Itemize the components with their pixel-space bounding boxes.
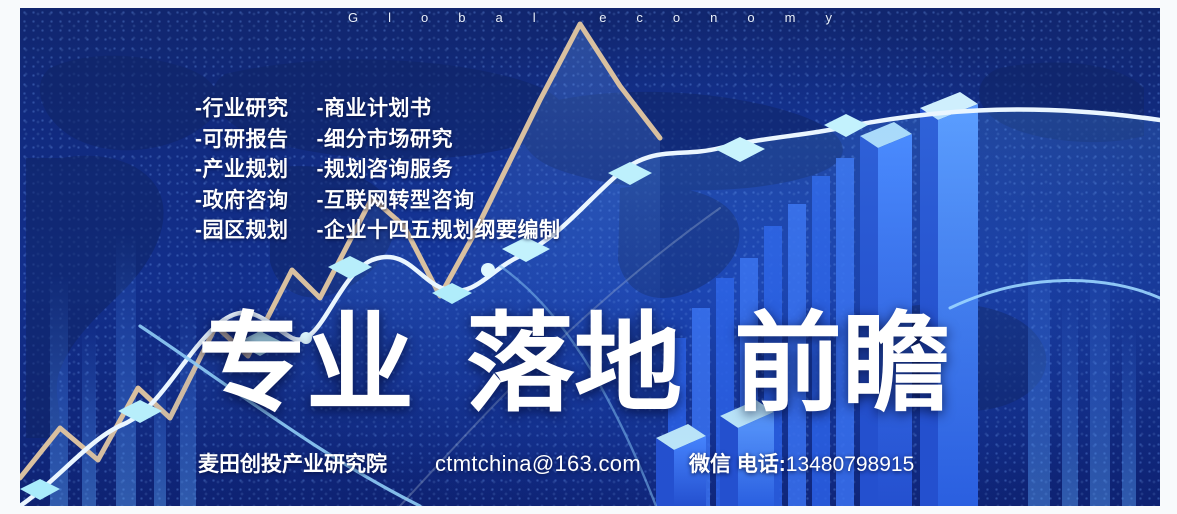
list-item: -政府咨询 bbox=[195, 186, 289, 217]
headline-word-1: 专业 bbox=[198, 305, 414, 423]
list-item: -商业计划书 bbox=[317, 94, 561, 125]
list-item: -规划咨询服务 bbox=[317, 155, 561, 186]
list-item: -产业规划 bbox=[195, 155, 289, 186]
headline-word-2: 落地 bbox=[466, 305, 682, 423]
phone-number[interactable]: 13480798915 bbox=[786, 453, 914, 476]
list-item: -园区规划 bbox=[195, 216, 289, 247]
list-item: -企业十四五规划纲要编制 bbox=[317, 216, 561, 247]
contact-label: 微信 电话: bbox=[689, 453, 786, 476]
footer-contact-bar: 麦田创投产业研究院 ctmtchina@163.com 微信 电话:134807… bbox=[198, 448, 914, 478]
list-item: -行业研究 bbox=[195, 94, 289, 125]
contact-info: 微信 电话:13480798915 bbox=[689, 448, 914, 478]
list-item: -互联网转型咨询 bbox=[317, 186, 561, 217]
headline-word-3: 前瞻 bbox=[734, 305, 950, 423]
list-item: -细分市场研究 bbox=[317, 125, 561, 156]
organization-name: 麦田创投产业研究院 bbox=[198, 448, 387, 478]
kicker-global-economy: Global economy bbox=[20, 10, 1160, 25]
service-list-right: -商业计划书 -细分市场研究 -规划咨询服务 -互联网转型咨询 -企业十四五规划… bbox=[317, 94, 561, 247]
list-item: -可研报告 bbox=[195, 125, 289, 156]
headline: 专业 落地 前瞻 bbox=[198, 305, 950, 423]
promo-banner: Global economy -行业研究 -可研报告 -产业规划 -政府咨询 -… bbox=[20, 8, 1160, 506]
service-lists: -行业研究 -可研报告 -产业规划 -政府咨询 -园区规划 -商业计划书 -细分… bbox=[195, 94, 561, 247]
email-address[interactable]: ctmtchina@163.com bbox=[435, 451, 641, 477]
banner-frame: Global economy -行业研究 -可研报告 -产业规划 -政府咨询 -… bbox=[0, 0, 1177, 514]
economy-chart-graphic bbox=[20, 8, 1160, 506]
service-list-left: -行业研究 -可研报告 -产业规划 -政府咨询 -园区规划 bbox=[195, 94, 289, 247]
